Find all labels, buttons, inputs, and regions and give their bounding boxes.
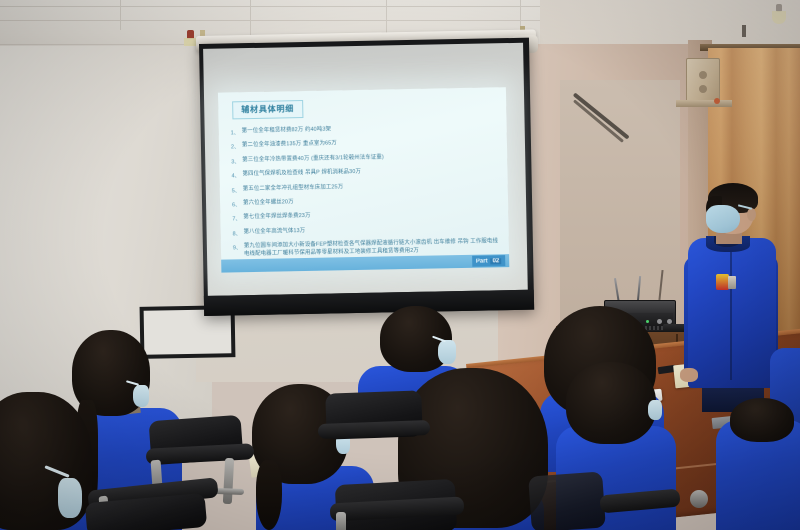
projector-screen: 辅材具体明细 1、 第一位全年租赁材费82万 约40吨3架 2、 第二位全年油漆… <box>199 38 534 316</box>
slide-item-text: 第八位全年高流气体13万 <box>244 228 306 236</box>
presenter-ear <box>747 208 756 221</box>
audience-face-mask <box>133 385 149 407</box>
slide-item-number: 1、 <box>231 128 242 136</box>
chair-backrest[interactable] <box>528 471 606 530</box>
speaker-shelf <box>676 100 732 107</box>
chair-knob[interactable] <box>690 490 708 508</box>
slide-item: 3、 第三位全年冷热带置费40万 (重庆还有3/1轮毂州法车证重) <box>231 152 497 165</box>
shelf-marker-icon <box>714 98 720 104</box>
chair-frame <box>336 512 346 530</box>
audience-face-mask <box>58 478 82 518</box>
slide-item: 1、 第一位全年租赁材费82万 约40吨3架 <box>231 123 497 136</box>
slide-item: 5、 第五位二家全年冲孔组型材车床加工25万 <box>232 181 498 194</box>
presenter-id-card <box>728 276 736 289</box>
slide-title: 辅材具体明细 <box>241 103 294 115</box>
slide-item-number: 3、 <box>231 157 242 165</box>
slide-item-text: 第四位气保焊机及检查线 吊具P 焊机消耗品30万 <box>242 169 361 178</box>
slide-part-number: 02 <box>490 258 501 264</box>
slide-item-number: 6、 <box>232 200 243 208</box>
slide-bullet-list: 1、 第一位全年租赁材费82万 约40吨3架 2、 第二位全年油漆费135万 重… <box>231 123 500 265</box>
slide-item-number: 2、 <box>231 143 242 151</box>
power-led-icon <box>646 320 649 323</box>
audience-hair <box>730 398 794 442</box>
slide-item-number: 7、 <box>232 215 243 223</box>
slide-item: 8、 第八位全年高流气体13万 <box>233 224 499 237</box>
slide-item-text: 第七位全年焊丝焊条费23万 <box>243 213 310 221</box>
slide-item: 6、 第六位全年螺丝20万 <box>232 195 498 208</box>
chair-frame <box>223 458 234 504</box>
slide-title-box: 辅材具体明细 <box>232 100 303 119</box>
audience-face-mask <box>648 400 662 420</box>
meeting-room-photo: 辅材具体明细 1、 第一位全年租赁材费82万 约40吨3架 2、 第二位全年油漆… <box>0 0 800 530</box>
audience-hair <box>566 362 656 444</box>
slide-item: 7、 第七位全年焊丝焊条费23万 <box>232 210 498 223</box>
presenter-jacket-seam <box>730 250 732 380</box>
presenter-face-mask <box>706 205 740 233</box>
slide-item: 4、 第四位气保焊机及检查线 吊具P 焊机消耗品30万 <box>231 166 497 179</box>
slide-item-text: 第二位全年油漆费135万 重点室为65万 <box>242 141 337 150</box>
slide-item-text: 第三位全年冷热带置费40万 (重庆还有3/1轮毂州法车证重) <box>242 154 384 164</box>
audience-face-mask <box>438 340 456 364</box>
slide-item-number: 9、 <box>233 243 244 251</box>
slide-part-label: Part <box>476 258 488 264</box>
wall-speaker <box>686 58 720 102</box>
slide-item: 2、 第二位全年油漆费135万 重点室为65万 <box>231 138 497 151</box>
slide-item-number: 5、 <box>232 186 243 194</box>
slide-part-badge: Part 02 <box>472 255 506 267</box>
fire-sprinkler-2-bulb-icon <box>772 11 786 24</box>
slide-item-text: 第六位全年螺丝20万 <box>243 199 294 207</box>
slide-item-text: 第一位全年租赁材费82万 约40吨3架 <box>242 126 332 135</box>
slide-item-number: 8、 <box>233 229 244 237</box>
presenter-uniform-jacket <box>688 238 776 388</box>
slide-item-text: 第五位二家全年冲孔组型材车床加工25万 <box>243 184 344 193</box>
projected-slide: 辅材具体明细 1、 第一位全年租赁材费82万 约40吨3架 2、 第二位全年油漆… <box>218 87 509 272</box>
presenter-hand <box>680 368 698 382</box>
screen-surface: 辅材具体明细 1、 第一位全年租赁材费82万 约40吨3架 2、 第二位全年油漆… <box>203 43 528 296</box>
ceiling-drop-rod <box>742 25 746 37</box>
audience-ponytail <box>256 460 282 530</box>
slide-item-number: 4、 <box>231 171 242 179</box>
